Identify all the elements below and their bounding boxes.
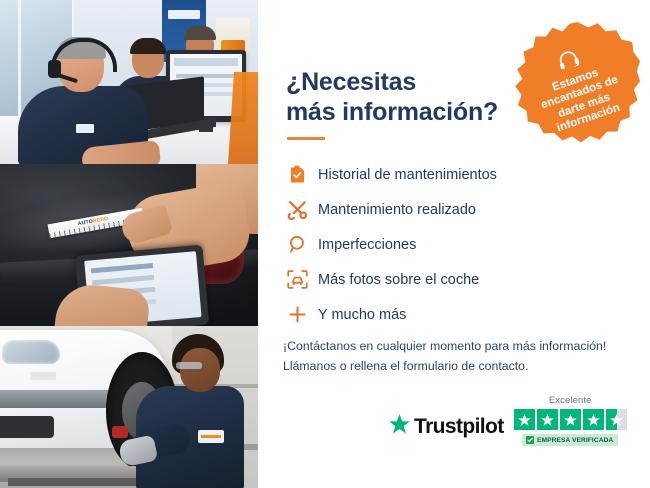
paragraph-line-1: ¡Contáctanos en cualquier momento para m… xyxy=(283,339,606,353)
safety-glasses xyxy=(176,362,202,369)
page-title: ¿Necesitas más información? xyxy=(286,67,536,128)
maintenance-history-icon xyxy=(282,165,312,185)
mechanic-wheel-photo xyxy=(0,326,258,488)
content-panel: ¿Necesitas más información? Estamos enca… xyxy=(258,0,650,488)
photo-column: AUTOHERO xyxy=(0,0,258,488)
star-rating xyxy=(514,409,627,430)
verified-label: EMPRESA VERIFICADA xyxy=(537,437,613,444)
star-filled xyxy=(537,409,558,430)
status-badge: EMPRESA VERIFICADA xyxy=(522,434,618,446)
badge-text: Estamos encantados de darte más informac… xyxy=(528,59,636,140)
list-item: Más fotos sobre el coche xyxy=(282,263,582,296)
headline-line-1: ¿Necesitas xyxy=(286,68,416,96)
list-item-label: Imperfecciones xyxy=(318,237,416,253)
encantados-badge: Estamos encantados de darte más informac… xyxy=(514,22,640,148)
trustpilot-logo[interactable]: Trustpilot xyxy=(388,413,504,446)
check-icon xyxy=(526,436,534,444)
call-center-agents-photo xyxy=(0,0,258,164)
list-item-label: Y mucho más xyxy=(318,307,406,323)
paragraph-line-2: Llámanos o rellena el formulario de cont… xyxy=(283,359,528,373)
list-item: Imperfecciones xyxy=(282,228,582,261)
trustpilot-wordmark: Trustpilot xyxy=(414,415,504,439)
star-filled xyxy=(583,409,604,430)
star-partial xyxy=(606,409,627,430)
mechanic-figure xyxy=(136,334,246,488)
plus-icon xyxy=(282,305,312,324)
car-inspection-ruler-photo: AUTOHERO xyxy=(0,164,258,326)
trustpilot-rating: Excelente xyxy=(514,395,627,446)
need-more-info-banner: AUTOHERO xyxy=(0,0,650,488)
list-item: Mantenimiento realizado xyxy=(282,193,582,226)
star-filled xyxy=(560,409,581,430)
list-item-label: Más fotos sobre el coche xyxy=(318,272,479,288)
star-filled xyxy=(514,409,535,430)
rating-label: Excelente xyxy=(549,395,592,406)
list-item: Y mucho más xyxy=(282,298,582,331)
magnifier-icon xyxy=(282,235,312,254)
list-item: Historial de mantenimientos xyxy=(282,158,582,191)
agent-foreground-figure xyxy=(18,40,150,164)
feature-list: Historial de mantenimientos Mantenimient… xyxy=(282,158,582,333)
list-item-label: Historial de mantenimientos xyxy=(318,167,497,183)
tools-cross-icon xyxy=(282,199,312,220)
contact-paragraph: ¡Contáctanos en cualquier momento para m… xyxy=(283,337,643,377)
car-scan-icon xyxy=(282,270,312,289)
trustpilot-star-icon xyxy=(388,413,411,440)
headline-line-2: más información? xyxy=(286,98,498,126)
trustpilot-widget[interactable]: Trustpilot Excelente xyxy=(388,395,638,446)
list-item-label: Mantenimiento realizado xyxy=(318,202,476,218)
title-underline-divider xyxy=(287,137,325,140)
